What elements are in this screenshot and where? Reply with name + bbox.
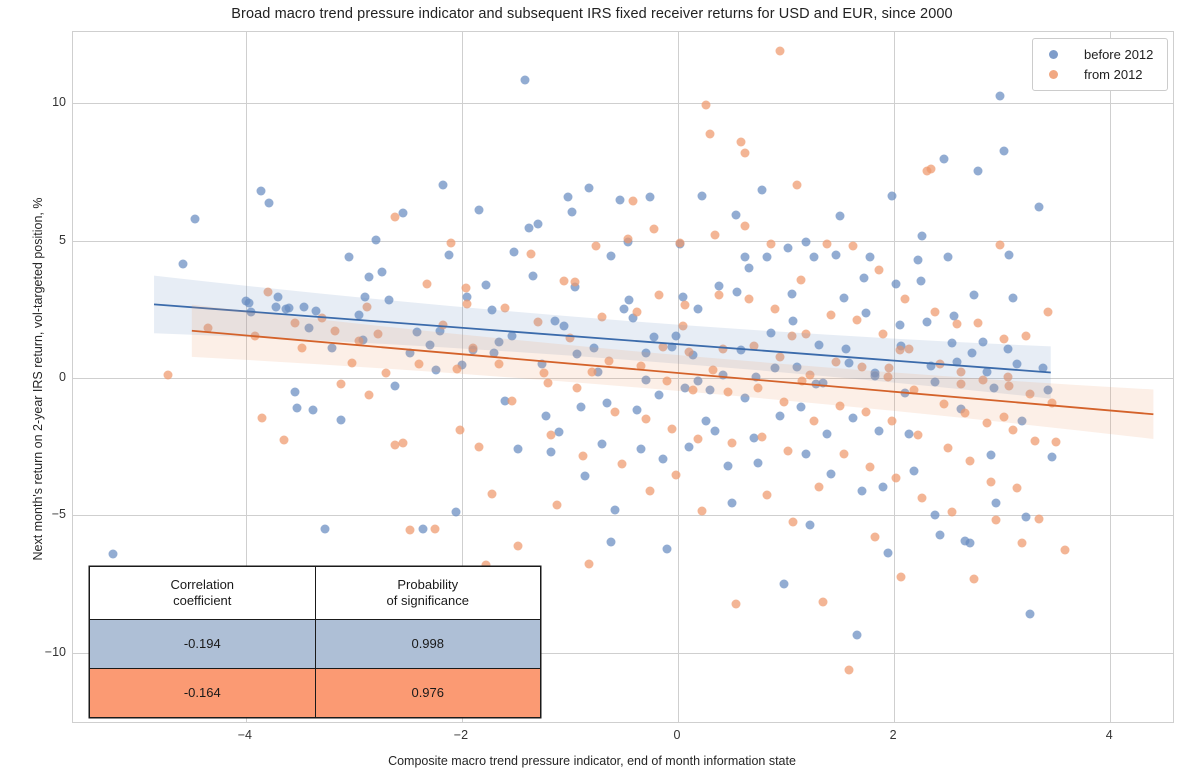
x-tick-label: −2: [431, 728, 491, 742]
stats-table: Correlation coefficient Probability of s…: [89, 566, 541, 718]
legend-label-from-2012: from 2012: [1084, 67, 1143, 82]
stats-header-probability: Probability of significance: [315, 567, 541, 620]
stats-header-probability-line2: of significance: [387, 593, 469, 608]
chart-title: Broad macro trend pressure indicator and…: [0, 6, 1184, 22]
x-tick-label: −4: [215, 728, 275, 742]
x-tick-label: 2: [863, 728, 923, 742]
y-axis-label: Next month's return on 2-year IRS return…: [31, 69, 45, 689]
stats-probability-before-2012: 0.998: [315, 620, 541, 669]
chart-root: Broad macro trend pressure indicator and…: [0, 0, 1184, 784]
stats-correlation-from-2012: -0.164: [90, 669, 316, 718]
x-tick-label: 0: [647, 728, 707, 742]
chart-legend: before 2012 from 2012: [1032, 38, 1168, 91]
legend-label-before-2012: before 2012: [1084, 47, 1153, 62]
legend-item-from-2012[interactable]: from 2012: [1041, 64, 1159, 84]
stats-header-correlation: Correlation coefficient: [90, 567, 316, 620]
x-tick-label: 4: [1079, 728, 1139, 742]
stats-header-correlation-line1: Correlation: [170, 577, 234, 592]
circle-marker-orange-icon: [1049, 70, 1058, 79]
x-axis-label: Composite macro trend pressure indicator…: [0, 754, 1184, 768]
stats-header-probability-line1: Probability: [397, 577, 458, 592]
stats-table-row-before-2012: -0.194 0.998: [90, 620, 541, 669]
circle-marker-blue-icon: [1049, 50, 1058, 59]
stats-table-row-from-2012: -0.164 0.976: [90, 669, 541, 718]
stats-table-header-row: Correlation coefficient Probability of s…: [90, 567, 541, 620]
stats-probability-from-2012: 0.976: [315, 669, 541, 718]
legend-item-before-2012[interactable]: before 2012: [1041, 44, 1159, 64]
stats-header-correlation-line2: coefficient: [173, 593, 231, 608]
stats-correlation-before-2012: -0.194: [90, 620, 316, 669]
